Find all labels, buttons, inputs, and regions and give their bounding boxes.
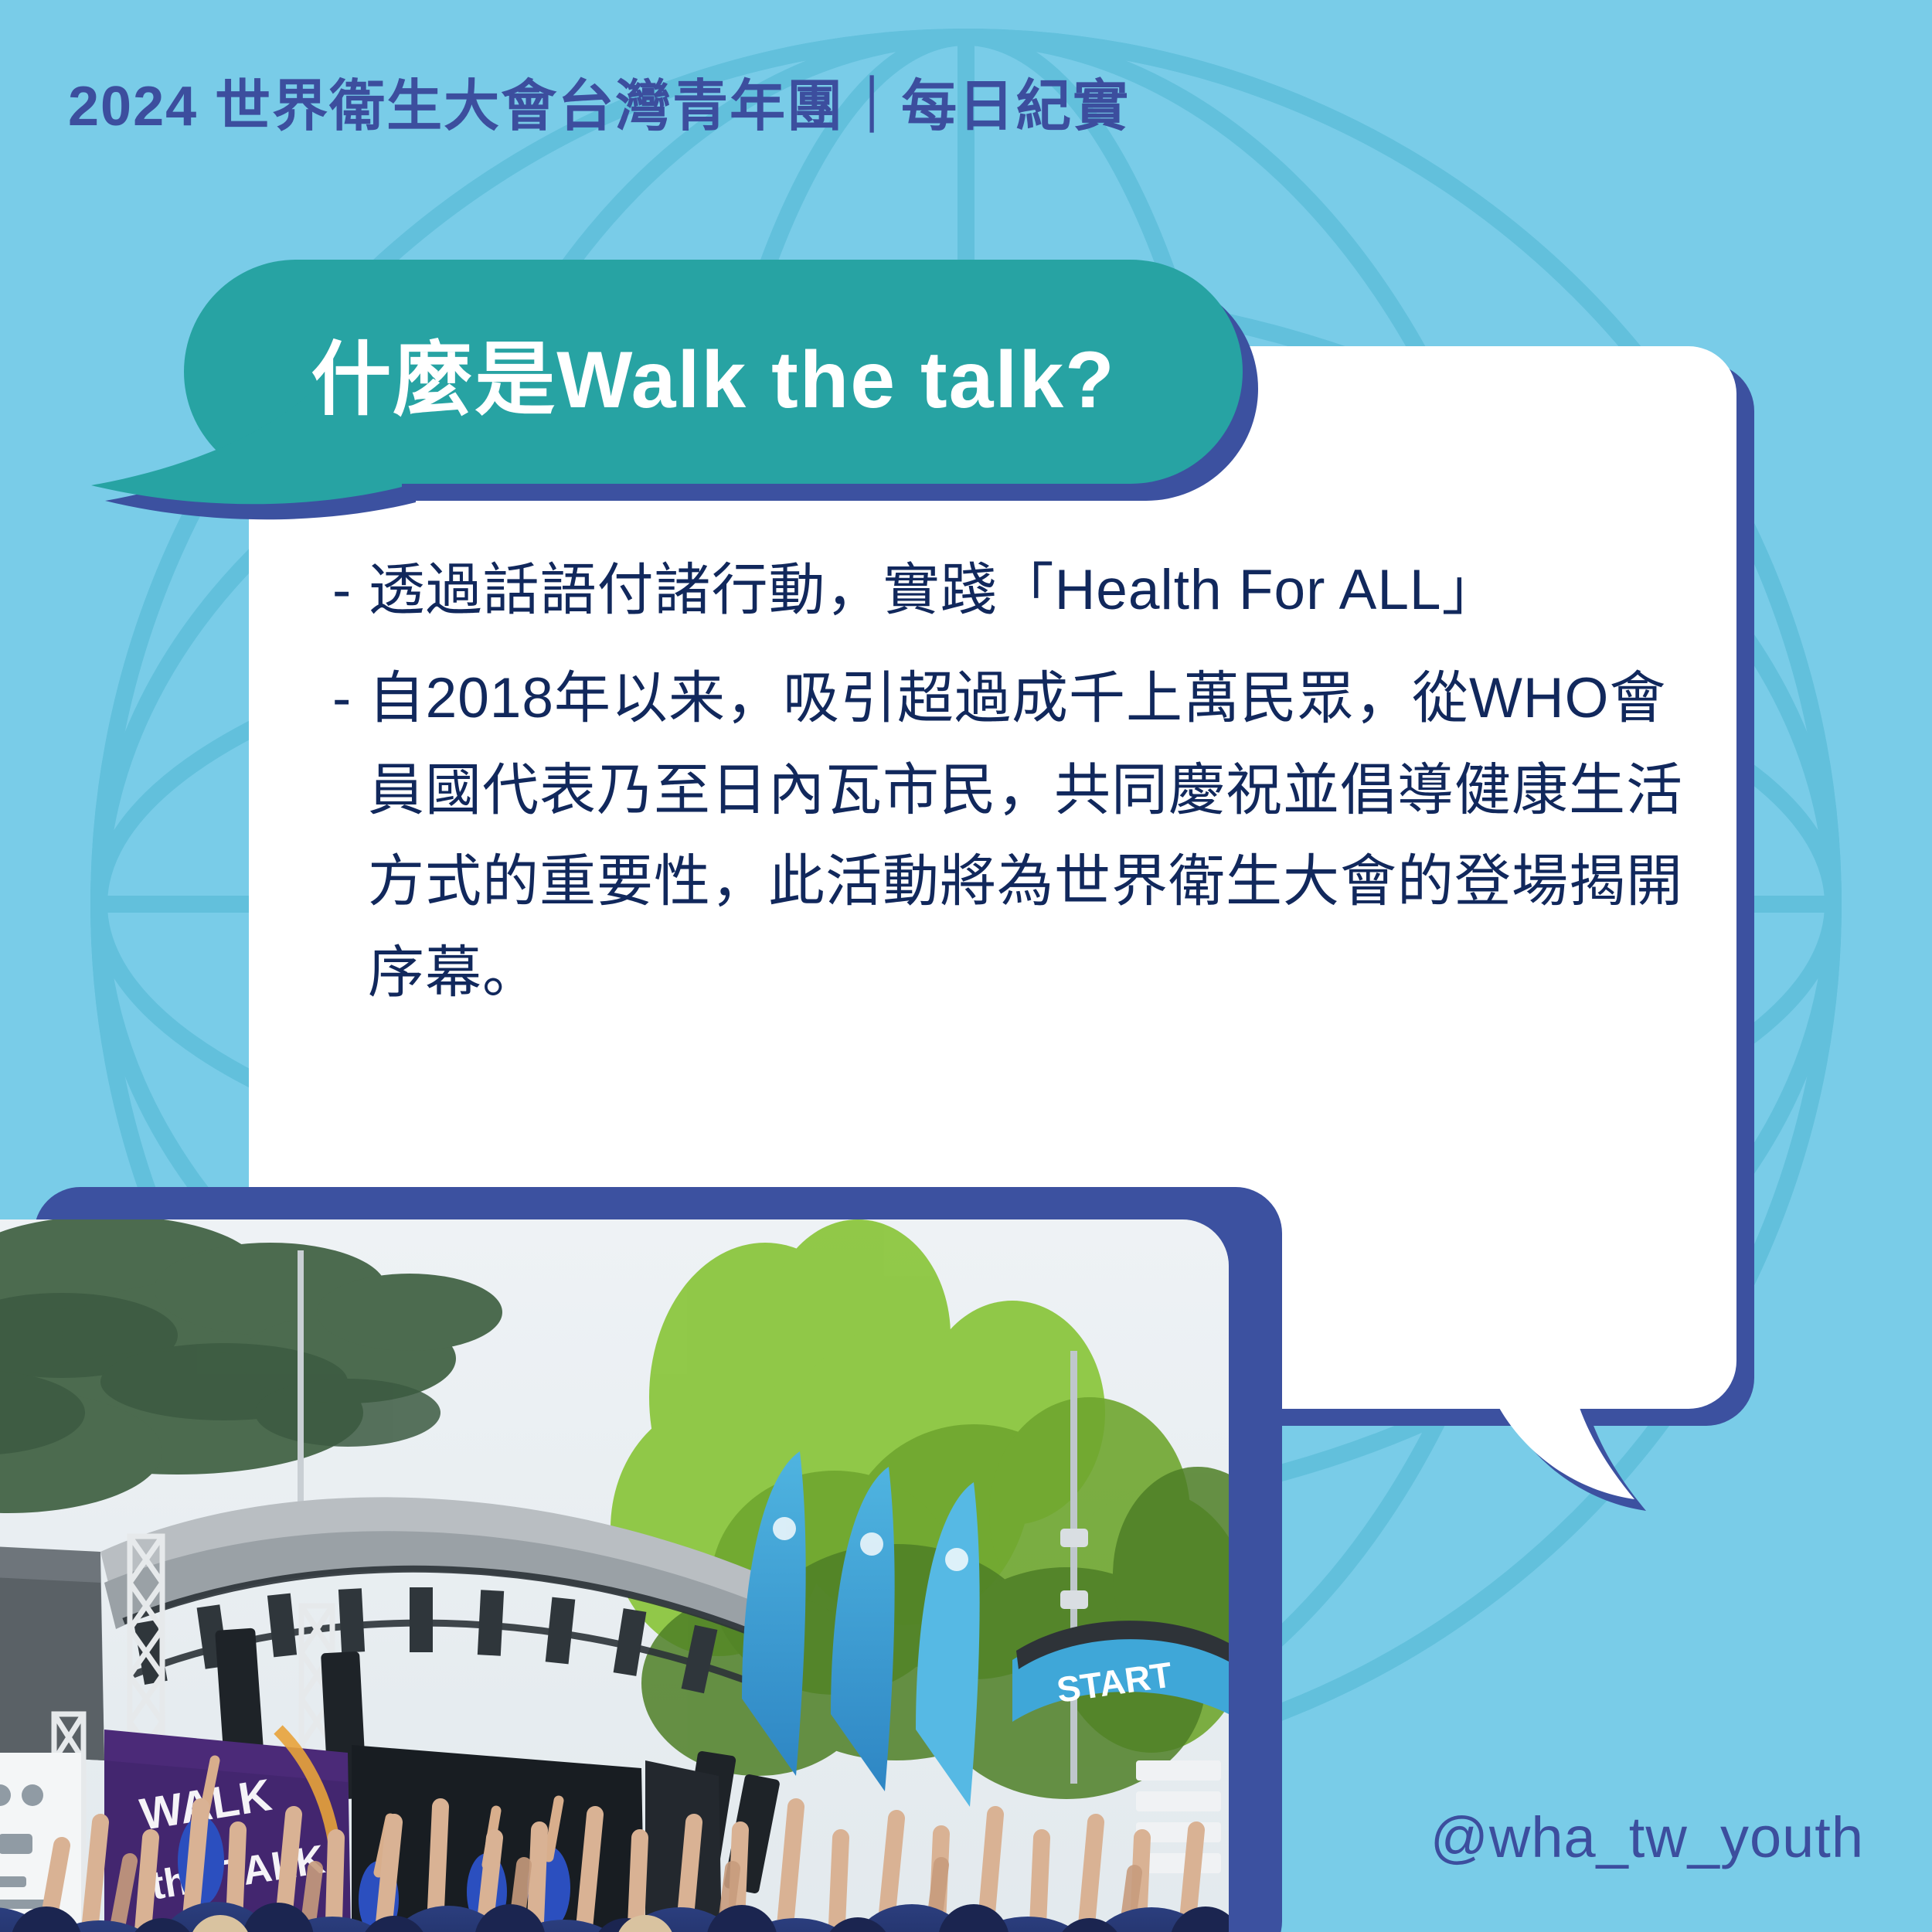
page-title: 2024 世界衛生大會台灣青年團｜每日紀實 xyxy=(68,60,1130,141)
poster-canvas: 2024 世界衛生大會台灣青年團｜每日紀實 - 透過話語付諸行動，實踐「Heal… xyxy=(0,0,1932,1932)
info-card-body: - 透過話語付諸行動，實踐「Health For ALL」 - 自2018年以来… xyxy=(332,545,1716,1019)
bullet-item: - 自2018年以来，吸引超過成千上萬民眾，從WHO會員國代表乃至日內瓦市民，共… xyxy=(332,653,1716,1019)
event-photo: WALK the TALK xyxy=(0,1219,1229,1932)
info-card-tail xyxy=(1480,1352,1712,1507)
bullet-item: - 透過話語付諸行動，實踐「Health For ALL」 xyxy=(332,545,1716,636)
account-handle: @wha_tw_youth xyxy=(1430,1804,1864,1870)
speech-bubble-title: 什麼是Walk the talk? xyxy=(184,260,1243,484)
